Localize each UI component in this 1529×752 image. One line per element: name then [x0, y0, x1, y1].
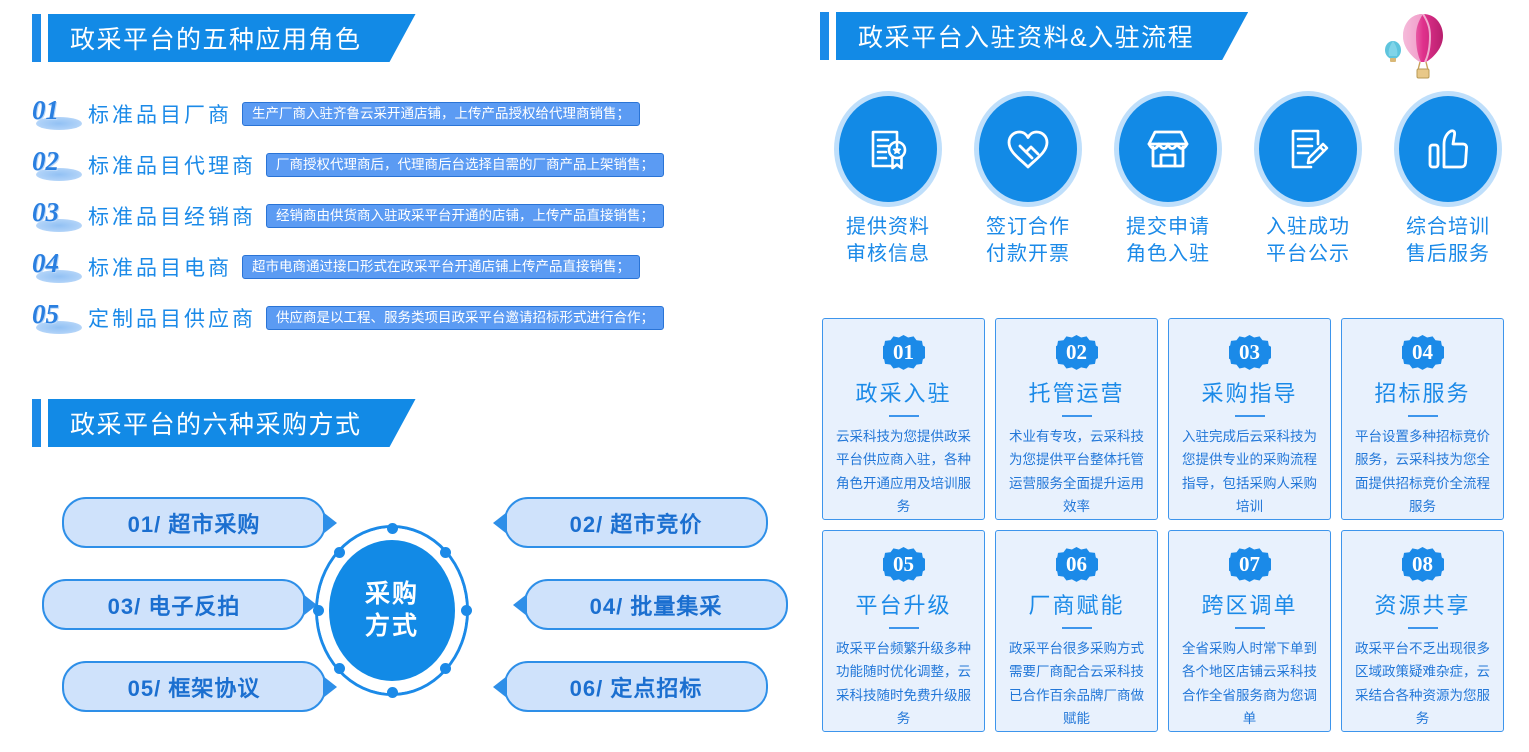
method-pill-01[interactable]: 01/ 超市采购 — [62, 497, 326, 548]
card-divider — [1062, 627, 1092, 629]
card-body: 入驻完成后云采科技为您提供专业的采购流程指导，包括采购人采购培训 — [1169, 425, 1330, 520]
role-row: 01 标准品目厂商 生产厂商入驻齐鲁云采开通店铺，上传产品授权给代理商销售； — [32, 97, 640, 131]
card-title: 资源共享 — [1374, 588, 1470, 620]
flow-step[interactable]: 提供资料 审核信息 — [818, 96, 958, 286]
card-body: 政采平台不乏出现很多区域政策疑难杂症，云采结合各种资源为您服务 — [1342, 637, 1503, 732]
card-number: 07 — [1239, 552, 1260, 577]
hub-dot — [313, 605, 324, 616]
role-description-tag: 超市电商通过接口形式在政采平台开通店铺上传产品直接销售； — [242, 255, 640, 280]
method-label: 03/ 电子反拍 — [108, 589, 241, 621]
flow-step[interactable]: 签订合作 付款开票 — [958, 96, 1098, 286]
role-number: 04 — [32, 250, 88, 284]
card-number: 02 — [1066, 340, 1087, 365]
role-number-text: 04 — [32, 248, 88, 279]
method-label: 02/ 超市竞价 — [570, 507, 703, 539]
role-description-tag: 供应商是以工程、服务类项目政采平台邀请招标形式进行合作； — [266, 306, 664, 331]
card-body: 全省采购人时常下单到各个地区店铺云采科技合作全省服务商为您调单 — [1169, 637, 1330, 732]
flow-label-line2: 角色入驻 — [1126, 241, 1210, 268]
onboarding-flow: 提供资料 审核信息 签订合作 付款开票 — [818, 96, 1518, 286]
flow-label-line1: 综合培训 — [1406, 214, 1490, 241]
service-card[interactable]: 01 政采入驻 云采科技为您提供政采平台供应商入驻，各种角色开通应用及培训服务 — [822, 318, 985, 520]
flow-label-line2: 付款开票 — [986, 241, 1070, 268]
card-title: 厂商赋能 — [1028, 588, 1124, 620]
card-body: 平台设置多种招标竞价服务，云采科技为您全面提供招标竞价全流程服务 — [1342, 425, 1503, 520]
method-pill-02[interactable]: 02/ 超市竞价 — [504, 497, 768, 548]
service-card[interactable]: 03 采购指导 入驻完成后云采科技为您提供专业的采购流程指导，包括采购人采购培训 — [1168, 318, 1331, 520]
service-card[interactable]: 02 托管运营 术业有专攻，云采科技为您提供平台整体托管运营服务全面提升运用效率 — [995, 318, 1158, 520]
flow-step-label: 提供资料 审核信息 — [846, 214, 930, 268]
card-title: 政采入驻 — [855, 376, 951, 408]
hub-dot — [387, 687, 398, 698]
method-pill-06[interactable]: 06/ 定点招标 — [504, 661, 768, 712]
card-number: 01 — [893, 340, 914, 365]
role-name: 标准品目代理商 — [88, 150, 256, 180]
role-name: 定制品目供应商 — [88, 303, 256, 333]
flow-label-line1: 提供资料 — [846, 214, 930, 241]
service-card[interactable]: 05 平台升级 政采平台频繁升级多种功能随时优化调整，云采科技随时免费升级服务 — [822, 530, 985, 732]
card-body: 云采科技为您提供政采平台供应商入驻，各种角色开通应用及培训服务 — [823, 425, 984, 520]
hub-label-line2: 方式 — [365, 611, 419, 642]
role-number: 05 — [32, 301, 88, 335]
card-title: 采购指导 — [1201, 376, 1297, 408]
role-name: 标准品目电商 — [88, 252, 232, 282]
service-card[interactable]: 07 跨区调单 全省采购人时常下单到各个地区店铺云采科技合作全省服务商为您调单 — [1168, 530, 1331, 732]
flow-step[interactable]: 入驻成功 平台公示 — [1238, 96, 1378, 286]
banner-plate: 政采平台的六种采购方式 — [48, 399, 416, 447]
hub-dot — [334, 547, 345, 558]
section-title-onboarding: 政采平台入驻资料&入驻流程 — [858, 18, 1194, 54]
role-description-tag: 厂商授权代理商后，代理商后台选择自需的厂商产品上架销售； — [266, 153, 664, 178]
hub-label-line1: 采购 — [365, 579, 419, 610]
banner-tick — [32, 399, 41, 447]
role-name: 标准品目厂商 — [88, 99, 232, 129]
card-number: 03 — [1239, 340, 1260, 365]
badge-starburst-icon: 07 — [1229, 547, 1271, 582]
flow-label-line1: 签订合作 — [986, 214, 1070, 241]
card-number: 06 — [1066, 552, 1087, 577]
card-body: 政采平台很多采购方式需要厂商配合云采科技已合作百余品牌厂商做赋能 — [996, 637, 1157, 732]
badge-starburst-icon: 01 — [883, 335, 925, 370]
handshake-heart-icon — [979, 96, 1077, 202]
role-description-tag: 生产厂商入驻齐鲁云采开通店铺，上传产品授权给代理商销售； — [242, 102, 640, 127]
card-divider — [1062, 415, 1092, 417]
section-title-roles: 政采平台的五种应用角色 — [70, 20, 362, 56]
certificate-icon — [839, 96, 937, 202]
flow-label-line2: 售后服务 — [1406, 241, 1490, 268]
banner-plate: 政采平台入驻资料&入驻流程 — [836, 12, 1248, 60]
badge-starburst-icon: 05 — [883, 547, 925, 582]
hub-dot — [440, 547, 451, 558]
card-divider — [889, 415, 919, 417]
flow-step-label: 综合培训 售后服务 — [1406, 214, 1490, 268]
method-pill-04[interactable]: 04/ 批量集采 — [524, 579, 788, 630]
wheel-hub: 采购 方式 — [318, 528, 466, 693]
badge-starburst-icon: 06 — [1056, 547, 1098, 582]
service-card[interactable]: 04 招标服务 平台设置多种招标竞价服务，云采科技为您全面提供招标竞价全流程服务 — [1341, 318, 1504, 520]
section-banner-methods: 政采平台的六种采购方式 — [32, 399, 416, 447]
pill-pointer-icon — [513, 594, 527, 616]
card-title: 招标服务 — [1374, 376, 1470, 408]
method-label: 05/ 框架协议 — [128, 671, 261, 703]
card-body: 政采平台频繁升级多种功能随时优化调整，云采科技随时免费升级服务 — [823, 637, 984, 732]
role-number: 02 — [32, 148, 88, 182]
role-number: 01 — [32, 97, 88, 131]
role-number-text: 02 — [32, 146, 88, 177]
hub-core: 采购 方式 — [329, 540, 455, 681]
banner-plate: 政采平台的五种应用角色 — [48, 14, 416, 62]
hot-air-balloon-icon — [1383, 8, 1447, 85]
role-number: 03 — [32, 199, 88, 233]
thumbs-up-icon — [1399, 96, 1497, 202]
role-row: 02 标准品目代理商 厂商授权代理商后，代理商后台选择自需的厂商产品上架销售； — [32, 148, 664, 182]
flow-label-line2: 审核信息 — [846, 241, 930, 268]
section-title-methods: 政采平台的六种采购方式 — [70, 405, 362, 441]
role-row: 03 标准品目经销商 经销商由供货商入驻政采平台开通的店铺，上传产品直接销售； — [32, 199, 664, 233]
method-pill-03[interactable]: 03/ 电子反拍 — [42, 579, 306, 630]
pill-pointer-icon — [493, 676, 507, 698]
badge-starburst-icon: 08 — [1402, 547, 1444, 582]
badge-starburst-icon: 04 — [1402, 335, 1444, 370]
card-divider — [1408, 415, 1438, 417]
storefront-icon — [1119, 96, 1217, 202]
flow-label-line1: 入驻成功 — [1266, 214, 1350, 241]
method-label: 04/ 批量集采 — [590, 589, 723, 621]
pill-pointer-icon — [493, 512, 507, 534]
role-description-tag: 经销商由供货商入驻政采平台开通的店铺，上传产品直接销售； — [266, 204, 664, 229]
card-number: 05 — [893, 552, 914, 577]
card-divider — [1408, 627, 1438, 629]
section-banner-roles: 政采平台的五种应用角色 — [32, 14, 416, 62]
service-cards-grid: 01 政采入驻 云采科技为您提供政采平台供应商入驻，各种角色开通应用及培训服务 … — [822, 318, 1518, 732]
method-label: 01/ 超市采购 — [128, 507, 261, 539]
flow-step-label: 提交申请 角色入驻 — [1126, 214, 1210, 268]
hub-dot — [440, 663, 451, 674]
hub-dot — [387, 523, 398, 534]
card-number: 08 — [1412, 552, 1433, 577]
flow-label-line2: 平台公示 — [1266, 241, 1350, 268]
flow-step[interactable]: 提交申请 角色入驻 — [1098, 96, 1238, 286]
badge-starburst-icon: 03 — [1229, 335, 1271, 370]
card-divider — [1235, 415, 1265, 417]
hub-dot — [334, 663, 345, 674]
role-row: 05 定制品目供应商 供应商是以工程、服务类项目政采平台邀请招标形式进行合作； — [32, 301, 664, 335]
flow-step[interactable]: 综合培训 售后服务 — [1378, 96, 1518, 286]
role-row: 04 标准品目电商 超市电商通过接口形式在政采平台开通店铺上传产品直接销售； — [32, 250, 640, 284]
card-title: 跨区调单 — [1201, 588, 1297, 620]
card-divider — [1235, 627, 1265, 629]
hub-dot — [461, 605, 472, 616]
flow-label-line1: 提交申请 — [1126, 214, 1210, 241]
role-number-text: 03 — [32, 197, 88, 228]
section-banner-onboarding: 政采平台入驻资料&入驻流程 — [820, 12, 1248, 60]
flow-step-label: 入驻成功 平台公示 — [1266, 214, 1350, 268]
infographic-page: 政采平台的五种应用角色 01 标准品目厂商 生产厂商入驻齐鲁云采开通店铺，上传产… — [0, 0, 1529, 752]
card-number: 04 — [1412, 340, 1433, 365]
card-body: 术业有专攻，云采科技为您提供平台整体托管运营服务全面提升运用效率 — [996, 425, 1157, 520]
flow-step-label: 签订合作 付款开票 — [986, 214, 1070, 268]
method-pill-05[interactable]: 05/ 框架协议 — [62, 661, 326, 712]
badge-starburst-icon: 02 — [1056, 335, 1098, 370]
role-number-text: 05 — [32, 299, 88, 330]
card-divider — [889, 627, 919, 629]
service-card[interactable]: 08 资源共享 政采平台不乏出现很多区域政策疑难杂症，云采结合各种资源为您服务 — [1341, 530, 1504, 732]
banner-tick — [32, 14, 41, 62]
method-label: 06/ 定点招标 — [570, 671, 703, 703]
role-number-text: 01 — [32, 95, 88, 126]
card-title: 平台升级 — [855, 588, 951, 620]
service-card[interactable]: 06 厂商赋能 政采平台很多采购方式需要厂商配合云采科技已合作百余品牌厂商做赋能 — [995, 530, 1158, 732]
role-name: 标准品目经销商 — [88, 201, 256, 231]
banner-tick — [820, 12, 829, 60]
card-title: 托管运营 — [1028, 376, 1124, 408]
document-edit-icon — [1259, 96, 1357, 202]
